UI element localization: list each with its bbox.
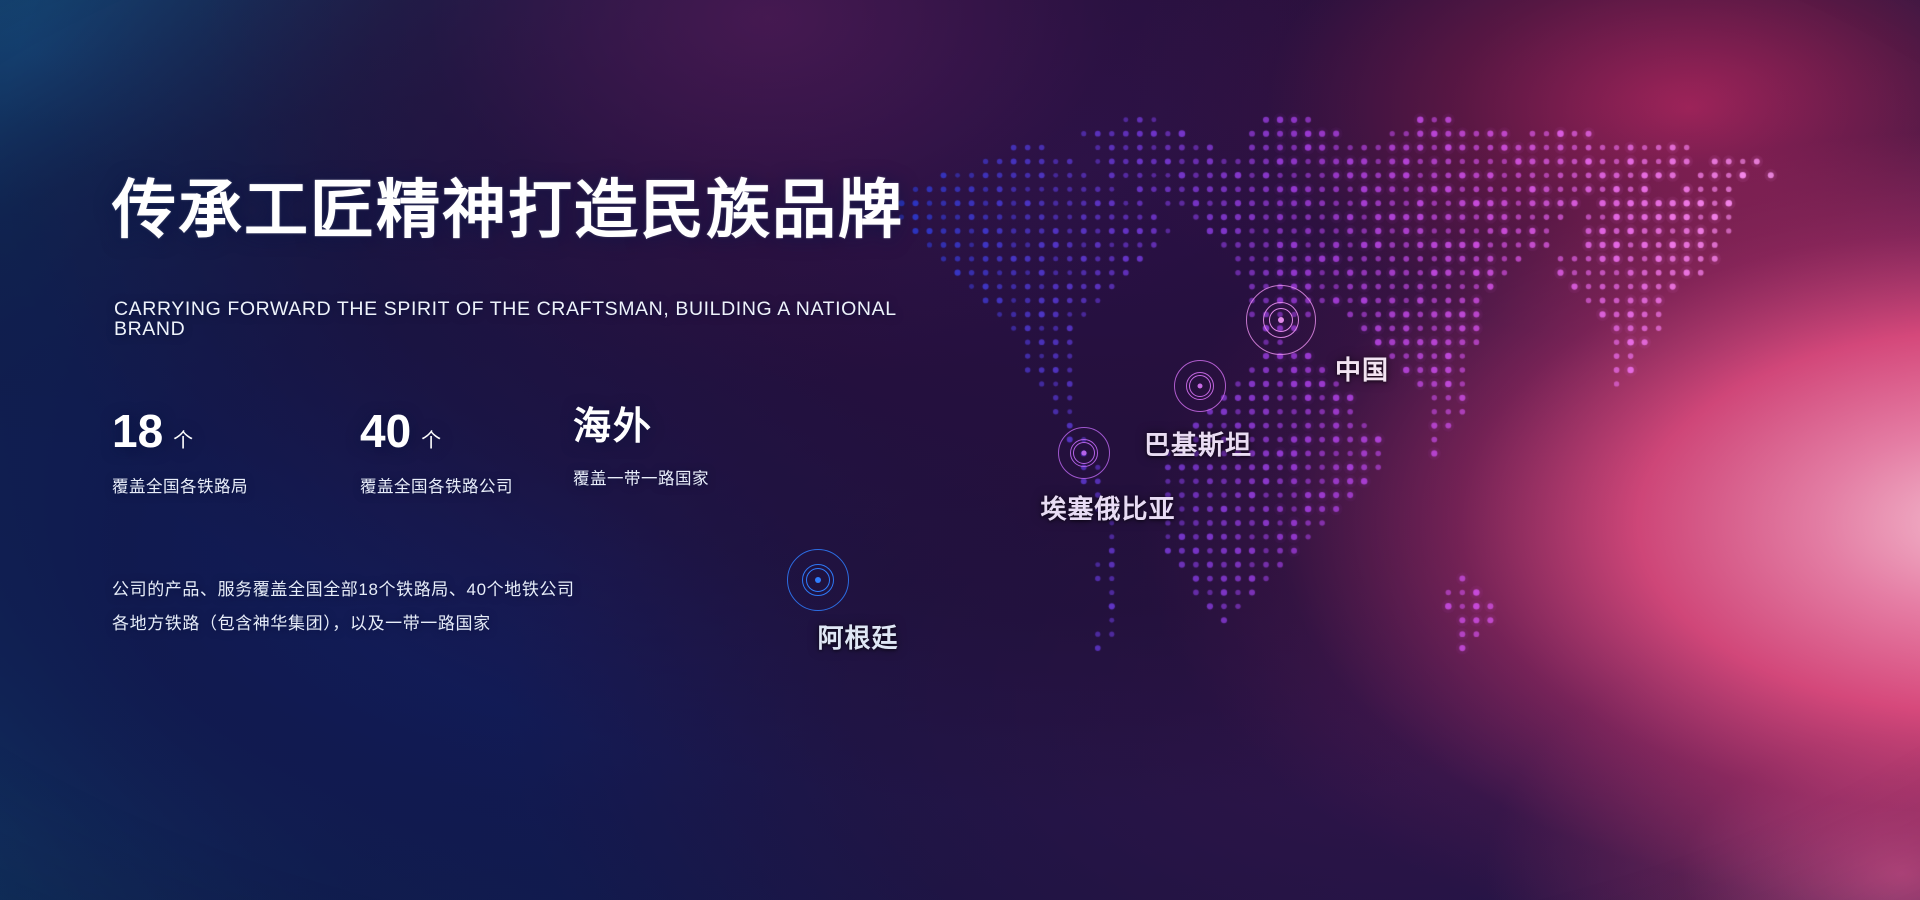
page-subtitle: CARRYING FORWARD THE SPIRIT OF THE CRAFT… <box>114 300 932 339</box>
description-line-1: 公司的产品、服务覆盖全国全部18个铁路局、40个地铁公司 <box>112 573 575 607</box>
page-title: 传承工匠精神打造民族品牌 <box>112 178 904 242</box>
map-marker-pakistan[interactable] <box>1172 358 1228 414</box>
description-text: 公司的产品、服务覆盖全国全部18个铁路局、40个地铁公司各地方铁路（包含神华集团… <box>112 573 575 641</box>
stat-number-row: 18个 <box>112 408 248 454</box>
hero-banner: 阿根廷埃塞俄比亚巴基斯坦中国 传承工匠精神打造民族品牌 CARRYING FOR… <box>0 0 1920 900</box>
description-line-2: 各地方铁路（包含神华集团），以及一带一路国家 <box>112 607 575 641</box>
stats-row: 18个覆盖全国各铁路局40个覆盖全国各铁路公司海外覆盖一带一路国家 <box>112 408 709 497</box>
stat-value: 海外 <box>573 408 653 446</box>
stat-number-row: 海外 <box>573 408 709 446</box>
stat-unit: 个 <box>173 431 193 451</box>
stat-number-row: 40个 <box>360 408 513 454</box>
map-label-ethiopia: 埃塞俄比亚 <box>1040 489 1175 526</box>
stat-item-3: 海外覆盖一带一路国家 <box>573 408 709 489</box>
stat-item-2: 40个覆盖全国各铁路公司 <box>360 408 513 497</box>
marker-core-dot <box>1198 384 1203 389</box>
stat-value: 18 <box>112 408 163 454</box>
stat-item-1: 18个覆盖全国各铁路局 <box>112 408 248 497</box>
stat-description: 覆盖一带一路国家 <box>573 465 709 489</box>
map-label-pakistan: 巴基斯坦 <box>1144 425 1252 462</box>
marker-core-dot <box>1082 451 1087 456</box>
stat-description: 覆盖全国各铁路局 <box>112 473 248 497</box>
map-label-china: 中国 <box>1335 350 1389 387</box>
stat-unit: 个 <box>421 431 441 451</box>
map-marker-china[interactable] <box>1244 283 1318 357</box>
stat-description: 覆盖全国各铁路公司 <box>360 473 513 497</box>
map-marker-ethiopia[interactable] <box>1056 425 1112 481</box>
content-block: 传承工匠精神打造民族品牌 CARRYING FORWARD THE SPIRIT… <box>112 0 932 900</box>
stat-value: 40 <box>360 408 411 454</box>
marker-core-dot <box>1278 317 1284 323</box>
